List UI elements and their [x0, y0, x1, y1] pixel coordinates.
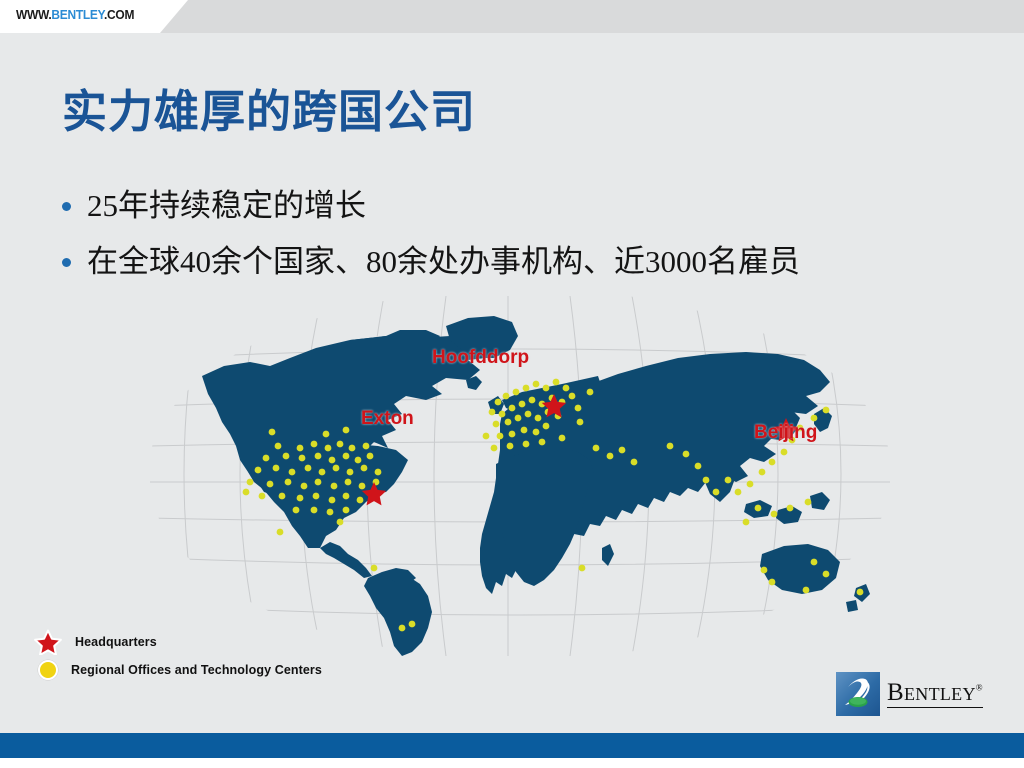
map-label-beijing: Beijing	[754, 422, 817, 444]
bullet-item: 在全球40余个国家、80余处办事机构、近3000名雇员	[62, 242, 992, 282]
registered-mark: ®	[976, 683, 983, 693]
bullet-dot-icon	[62, 202, 71, 211]
bentley-logo: BENTLEY®	[836, 672, 983, 716]
wordmark-rest: ENTLEY	[904, 684, 976, 704]
url-suffix: .COM	[104, 7, 134, 22]
footer-bar	[0, 733, 1024, 758]
slide-canvas: WWW.BENTLEY.COM 实力雄厚的跨国公司 25年持续稳定的增长 在全球…	[0, 0, 1024, 768]
bullet-item: 25年持续稳定的增长	[62, 186, 992, 226]
map-label-hoofddorp: Hoofddorp	[432, 347, 529, 369]
wordmark-cap: B	[887, 679, 904, 706]
bullet-list: 25年持续稳定的增长 在全球40余个国家、80余处办事机构、近3000名雇员	[62, 186, 992, 297]
bottom-white-margin	[0, 758, 1024, 768]
bentley-wordmark: BENTLEY®	[887, 680, 983, 708]
header-grey-fill	[165, 0, 1024, 33]
legend-item-regional: Regional Offices and Technology Centers	[34, 656, 394, 684]
map-legend: Headquarters Regional Offices and Techno…	[34, 628, 394, 684]
bentley-logo-mark-icon	[836, 672, 880, 716]
legend-circle-icon	[38, 660, 58, 680]
legend-star-icon	[34, 629, 62, 655]
bullet-text: 在全球40余个国家、80余处办事机构、近3000名雇员	[87, 242, 800, 282]
url-brand: BENTLEY	[51, 7, 104, 22]
website-url: WWW.BENTLEY.COM	[16, 7, 134, 22]
slide-title: 实力雄厚的跨国公司	[62, 75, 476, 140]
bullet-dot-icon	[62, 258, 71, 267]
map-label-exton: Exton	[361, 408, 414, 430]
legend-item-headquarters: Headquarters	[34, 628, 394, 656]
legend-label-headquarters: Headquarters	[75, 635, 157, 649]
url-prefix: WWW.	[16, 7, 51, 22]
legend-label-regional: Regional Offices and Technology Centers	[71, 663, 322, 677]
bullet-text: 25年持续稳定的增长	[87, 186, 366, 226]
